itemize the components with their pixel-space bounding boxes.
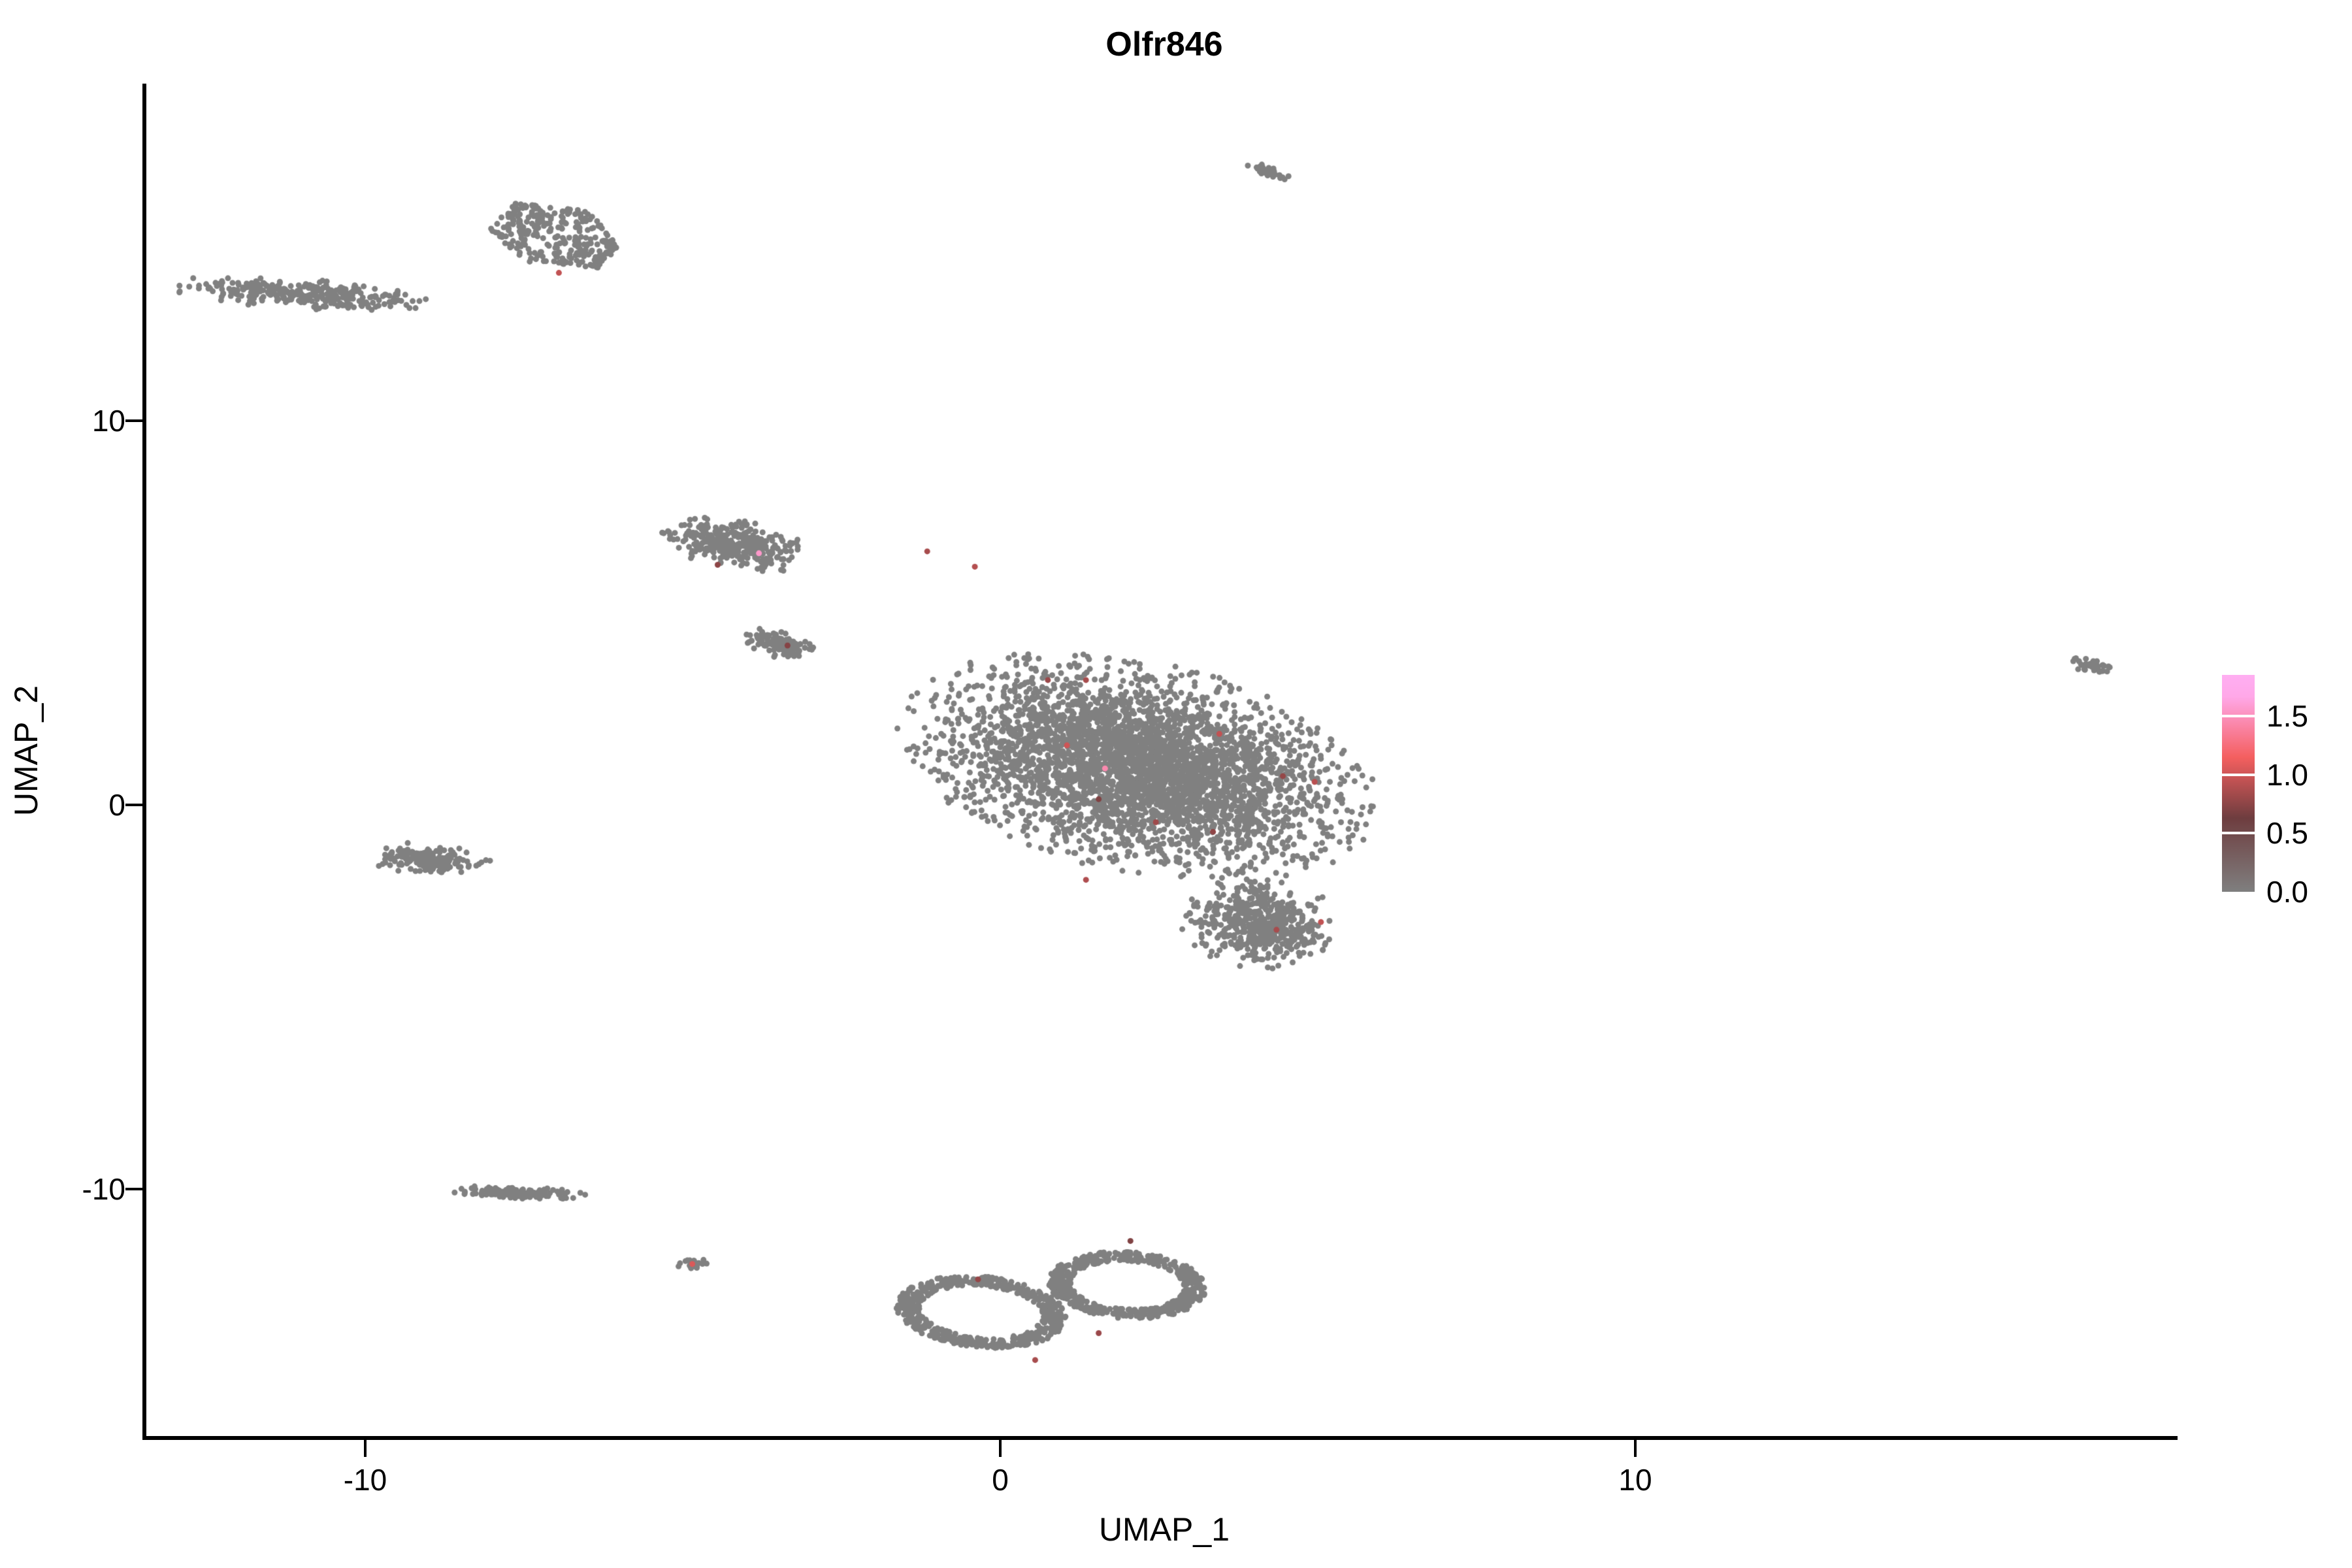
y-axis-label: UMAP_2	[7, 522, 45, 979]
scatter-plot-canvas	[144, 78, 2170, 1437]
colorbar-tick-label: 1.5	[2266, 698, 2308, 734]
y-axis-line	[142, 84, 146, 1440]
x-axis-label: UMAP_1	[0, 1511, 2340, 1548]
colorbar-tick-mark	[2222, 715, 2255, 717]
y-tick-mark	[125, 804, 142, 806]
y-tick-label: 0	[108, 787, 125, 823]
colorbar-legend: 0.00.51.01.5	[2218, 666, 2349, 908]
page-title: Olfr846	[0, 25, 2340, 64]
x-tick-label: 0	[992, 1462, 1009, 1497]
x-tick-mark	[1634, 1440, 1637, 1457]
plot-root: Olfr846 -10010 -10010 UMAP_1 UMAP_2 0.00…	[0, 0, 2352, 1568]
colorbar-tick-mark	[2222, 774, 2255, 776]
colorbar-tick-mark	[2222, 832, 2255, 834]
x-axis-line	[142, 1436, 2178, 1440]
x-tick-label: -10	[344, 1462, 387, 1497]
y-tick-label: 10	[92, 403, 125, 438]
plot-panel	[144, 78, 2170, 1437]
colorbar-tick-label: 0.0	[2266, 874, 2308, 909]
x-tick-mark	[999, 1440, 1002, 1457]
y-tick-label: -10	[82, 1171, 125, 1207]
colorbar-tick-label: 1.0	[2266, 757, 2308, 792]
y-tick-mark	[125, 1188, 142, 1190]
x-tick-label: 10	[1618, 1462, 1652, 1497]
y-tick-mark	[125, 419, 142, 422]
colorbar-tick-label: 0.5	[2266, 815, 2308, 851]
colorbar-gradient	[2222, 675, 2255, 892]
x-tick-mark	[364, 1440, 367, 1457]
